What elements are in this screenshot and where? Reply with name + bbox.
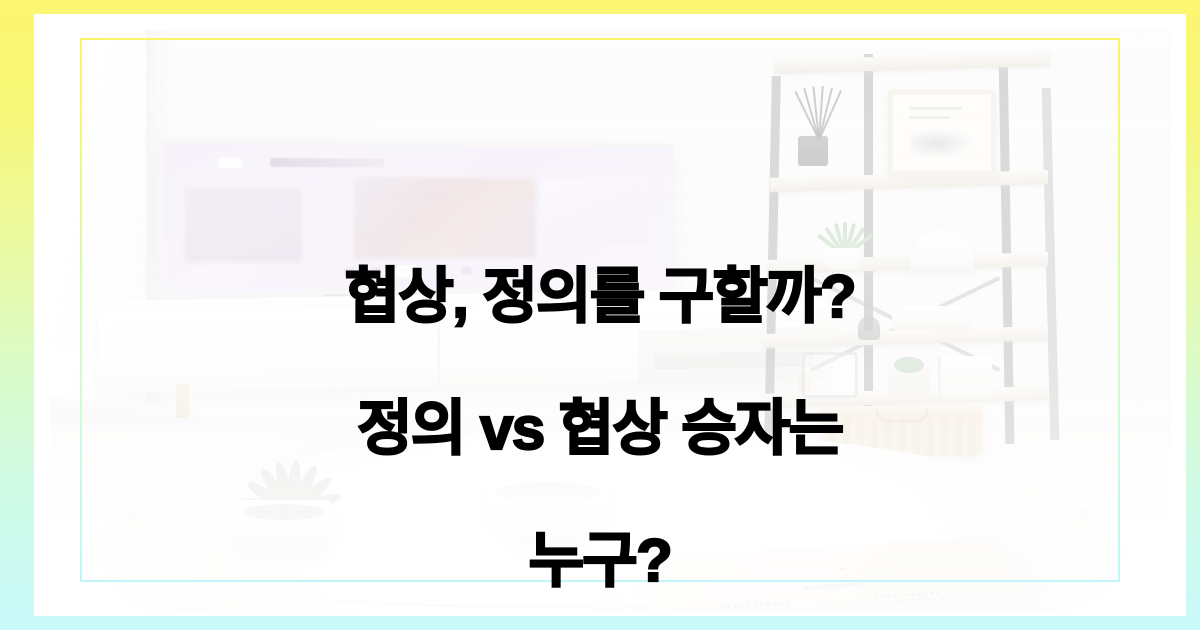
picture-frame-art (911, 128, 976, 158)
streaming-logo-icon (217, 157, 242, 168)
picture-frame (888, 90, 996, 176)
title-line-2: 정의 vs 협상 승자는 (0, 396, 1200, 462)
title-line-3: 누구? (0, 528, 1200, 594)
streaming-title-text (270, 158, 384, 168)
thumbnail-canvas: 협상, 정의를 구할까? 정의 vs 협상 승자는 누구? (0, 0, 1200, 630)
reed-diffuser-vase (798, 136, 828, 166)
page-title: 협상, 정의를 구할까? 정의 vs 협상 승자는 누구? (0, 198, 1200, 630)
title-line-1: 협상, 정의를 구할까? (0, 264, 1200, 330)
shelf-board-1 (774, 52, 1050, 74)
reed-diffuser-sticks (796, 84, 840, 140)
